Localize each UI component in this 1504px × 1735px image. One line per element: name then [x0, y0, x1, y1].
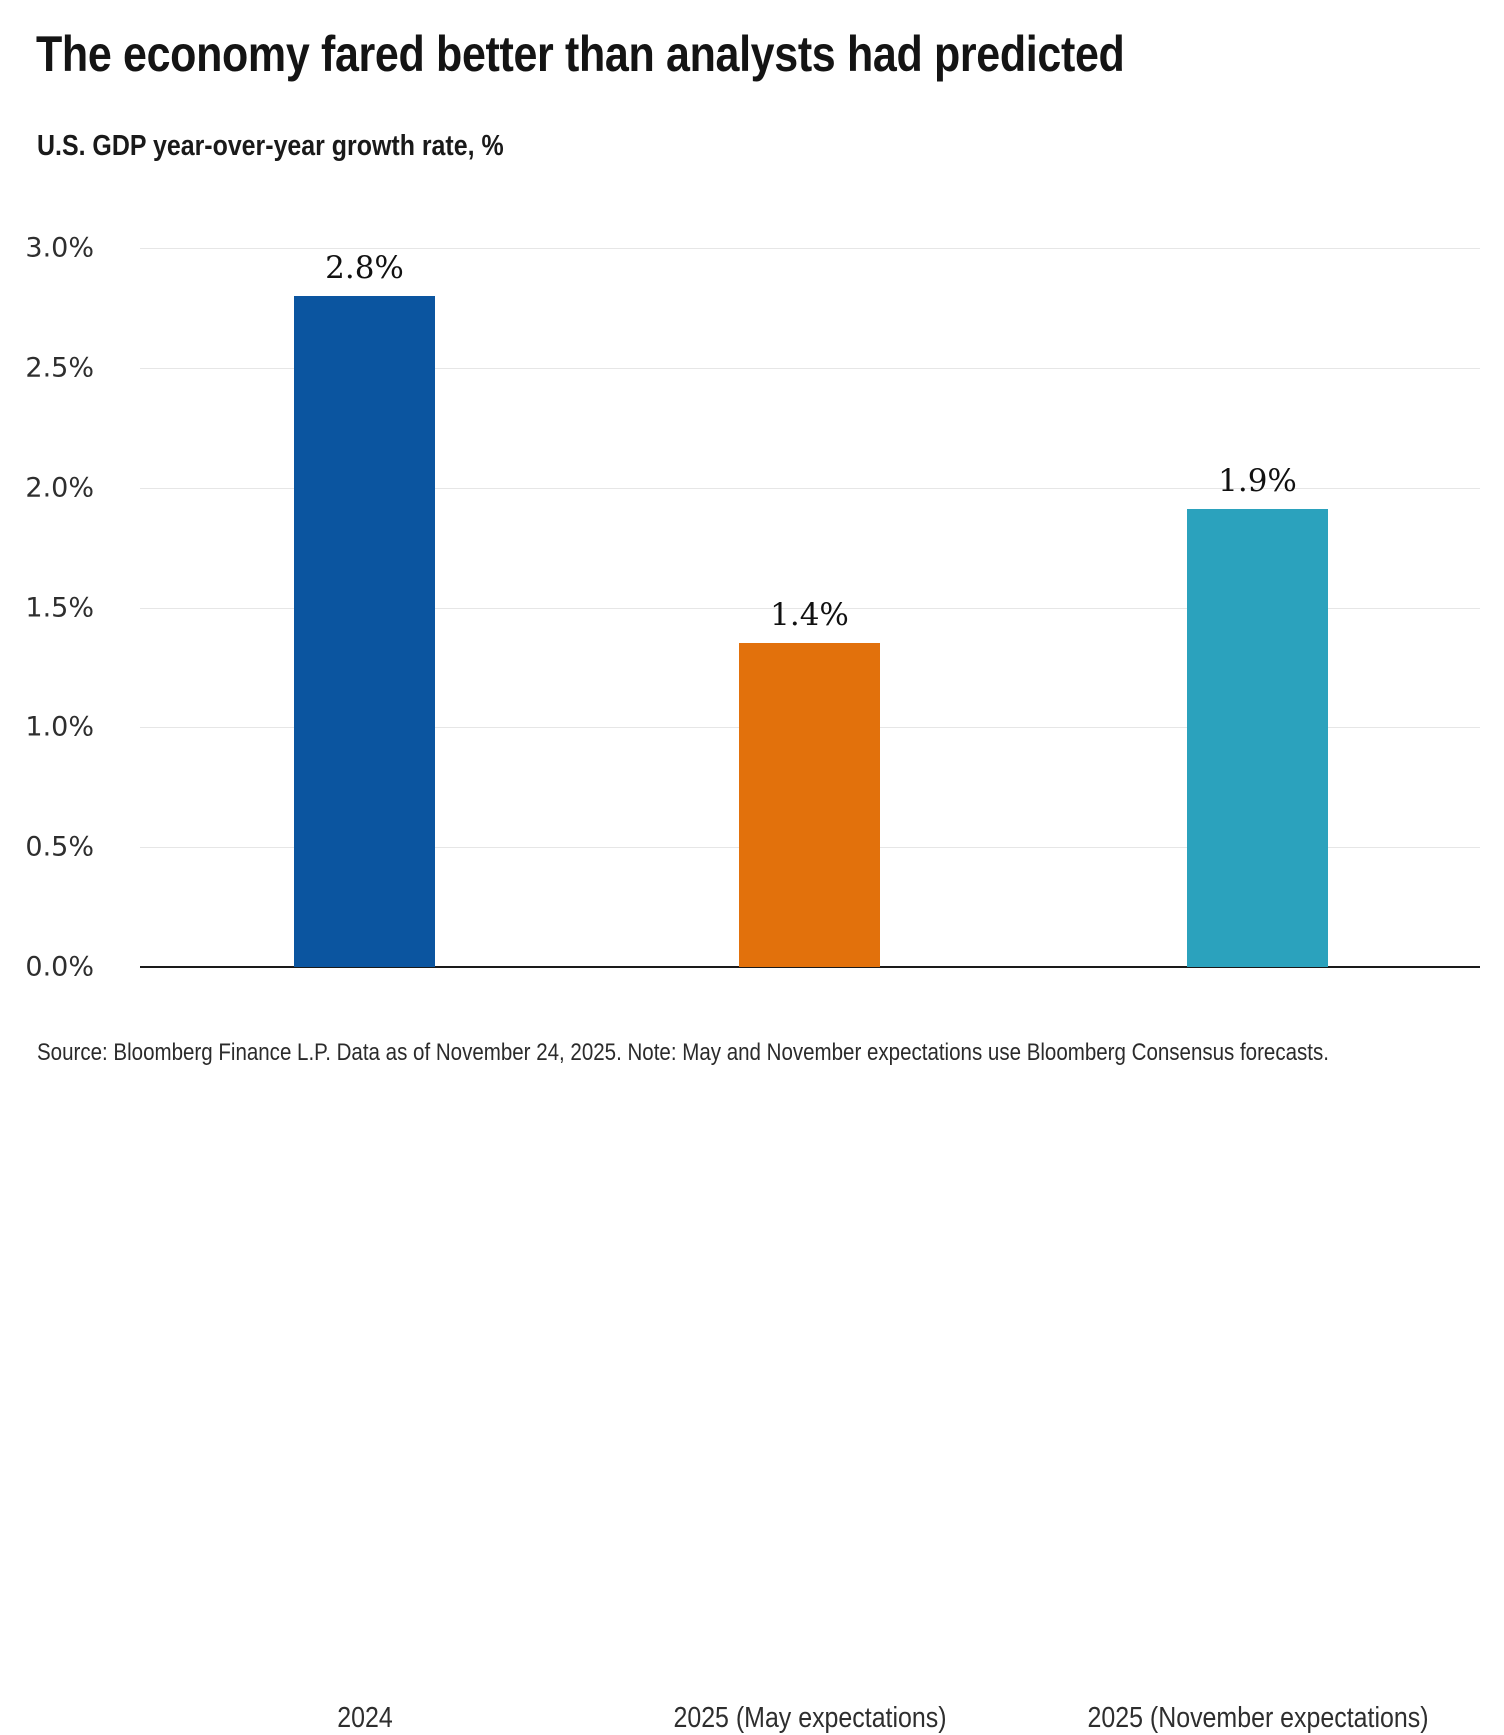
x-axis-category-2: 2025 (November expectations) — [1258, 1702, 1504, 1735]
bar-rect-1[interactable] — [739, 643, 880, 967]
gridline-3.0% — [140, 248, 1480, 249]
chart-subtitle: U.S. GDP year-over-year growth rate, % — [37, 128, 504, 164]
source-note: Source: Bloomberg Finance L.P. Data as o… — [37, 1038, 1329, 1068]
y-axis-tick-label-4: 1.0% — [0, 712, 94, 743]
bar-value-label-1: 1.4% — [770, 597, 849, 633]
plot-area: 3.0%2.5%2.0%1.5%1.0%0.5%0.0% 2.8% 2024 1… — [140, 248, 1480, 967]
y-axis-tick-label-1: 2.5% — [0, 352, 94, 383]
bar-rect-2[interactable] — [1187, 509, 1328, 967]
y-axis-tick-label-3: 1.5% — [0, 592, 94, 623]
y-axis-tick-label-2: 2.0% — [0, 472, 94, 503]
x-axis-category-0: 2024 — [365, 1702, 430, 1735]
bar-rect-0[interactable] — [294, 296, 435, 967]
y-axis-tick-label-0: 3.0% — [0, 233, 94, 264]
y-axis-tick-label-5: 0.5% — [0, 832, 94, 863]
bar-value-label-2: 1.9% — [1218, 463, 1297, 499]
bar-value-label-0: 2.8% — [325, 250, 404, 286]
chart-figure: The economy fared better than analysts h… — [0, 0, 1504, 1090]
y-axis-tick-label-6: 0.0% — [0, 952, 94, 983]
page-title: The economy fared better than analysts h… — [36, 24, 1274, 84]
x-axis-category-1: 2025 (May expectations) — [810, 1702, 1128, 1735]
